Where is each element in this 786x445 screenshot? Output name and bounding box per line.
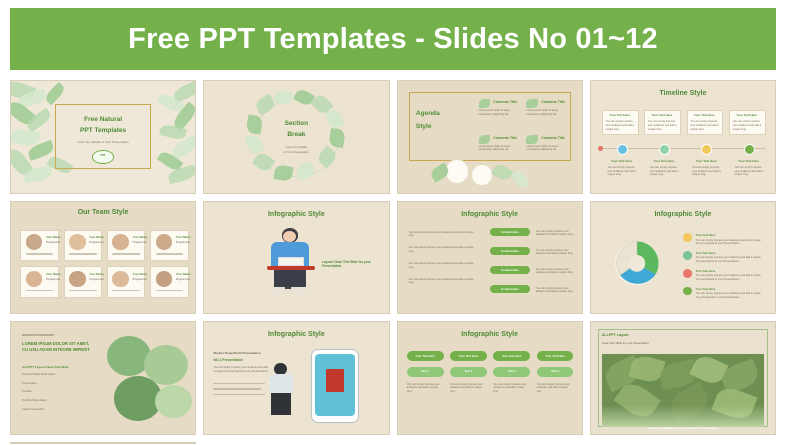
slide13-item-2-desc: You can simply impress your audience and… xyxy=(107,443,188,444)
slide-thumbnail-infographic-cards[interactable]: Infographic Style Your Text Here Your Te… xyxy=(397,321,583,435)
slide4-step-3-desc: You can simply impress your audience and… xyxy=(690,120,719,131)
slide8-legend-4: Your Text Here xyxy=(696,287,715,291)
slide9-bullet-5: Clean Presentation xyxy=(22,408,96,412)
slide4-sub-1: Your Text Here xyxy=(611,159,632,163)
slide5-member-5-role: Programmer xyxy=(46,278,60,281)
slide3-body-1: Lorem ipsum dolor sit amet, consectetur … xyxy=(479,109,523,117)
slide4-step-2-desc: You can simply impress your audience and… xyxy=(648,120,677,131)
slide1-subtitle: PPT Templates xyxy=(59,127,147,134)
slide9-heading: MODERN POWERPOINT xyxy=(22,333,54,337)
slide11-card-3-btn[interactable]: Text 3 xyxy=(493,369,530,373)
slide3-body-4: Lorem ipsum dolor sit amet, consectetur … xyxy=(526,145,570,153)
slide-thumbnail-timeline[interactable]: Timeline Style Your Text Here Your Text … xyxy=(590,80,776,194)
slide7-item-1-label: Content Here xyxy=(490,230,531,234)
slide-thumbnail-infographic-pie[interactable]: Infographic Style Your Text Here Your Te… xyxy=(590,201,776,315)
slide7-item-3-desc: You can simply impress your audience and… xyxy=(536,268,575,276)
slide5-member-3-name: Your Name xyxy=(133,235,148,239)
slide8-legend-1: Your Text Here xyxy=(696,233,715,237)
slide5-member-6-name: Your Name xyxy=(89,272,104,276)
slide11-card-2-btn[interactable]: Text 2 xyxy=(450,369,487,373)
slide-thumbnail-infographic-list[interactable]: Infographic Style You can simply impress… xyxy=(397,201,583,315)
slide5-member-3-role: Programmer xyxy=(133,241,147,244)
slide7-item-1-desc: You can simply impress your audience and… xyxy=(536,230,575,238)
slide-thumbnail-title[interactable]: Free Natural PPT Templates Insert the Su… xyxy=(10,80,196,194)
slide3-item-1: Contents Title xyxy=(493,100,517,104)
slide7-body-left-3: You can simply impress your audience and… xyxy=(409,262,479,270)
slide1-title: Free Natural xyxy=(59,116,147,123)
slide2-caption: Insert the Subtitle xyxy=(261,145,331,149)
slide11-card-3-title: Your Text Here xyxy=(493,354,530,358)
slide8-body-3: You can simply impress your audience and… xyxy=(696,274,762,282)
slide11-card-2-title: Your Text Here xyxy=(450,354,487,358)
slide13-title: Infographic Style xyxy=(129,443,186,444)
slide9-bullet-1: Simple Portfolio Presentation xyxy=(22,373,96,377)
slide5-member-6-role: Programmer xyxy=(89,278,103,281)
slide-thumbnail-lorem-ipsum[interactable]: MODERN POWERPOINT LOREM IPSUM DOLOR SIT … xyxy=(10,321,196,435)
slide4-sub-desc-2: You can simply impress your audience and… xyxy=(650,166,679,177)
slide7-item-3-label: Content Here xyxy=(490,268,531,272)
slide-thumbnail-our-team[interactable]: Our Team Style Your Name Programmer Your… xyxy=(10,201,196,315)
slide-thumbnail-infographic-person[interactable]: Infographic Style Layout Clean Text Slid… xyxy=(203,201,389,315)
slide4-step-3-label: Your Text Here xyxy=(694,113,715,117)
slide7-title: Infographic Style xyxy=(398,211,582,218)
slide12-footer: We Create Quality Professional PPT Prese… xyxy=(605,426,760,430)
slide11-card-1-btn[interactable]: Text 1 xyxy=(407,369,444,373)
slide10-heading: Modern PowerPoint Presentation xyxy=(213,351,260,355)
slide4-step-1-label: Your Text Here xyxy=(609,113,630,117)
slide5-member-7-role: Programmer xyxy=(133,278,147,281)
slide4-sub-2: Your Text Here xyxy=(653,159,674,163)
slide4-sub-desc-1: You can simply impress your audience and… xyxy=(607,166,636,177)
slide4-step-2-label: Your Text Here xyxy=(652,113,673,117)
slide7-item-2-desc: You can simply impress your audience and… xyxy=(536,249,575,257)
slide4-title: Timeline Style xyxy=(591,90,775,97)
slide3-body-2: Lorem ipsum dolor sit amet, consectetur … xyxy=(526,109,570,117)
question-mark-icon: ? xyxy=(26,443,52,444)
slide5-member-8-role: Programmer xyxy=(176,278,190,281)
slide-thumbnail-section-break[interactable]: Section Break Insert the Subtitle of You… xyxy=(203,80,389,194)
slide11-card-2-desc: You can simply impress your audience and… xyxy=(450,383,487,394)
slide3-item-2: Contents Title xyxy=(541,100,565,104)
slide7-item-4-label: Content Here xyxy=(490,287,531,291)
slide-thumbnail-infographic-reading[interactable]: Infographic Style ? Content Here You can… xyxy=(10,442,196,444)
slide5-member-4-name: Your Name xyxy=(176,235,191,239)
slide7-item-4-desc: You can simply impress your audience and… xyxy=(536,287,575,295)
slide13-item-1-label: Content Here xyxy=(107,443,125,444)
slide5-member-1-name: Your Name xyxy=(46,235,61,239)
page-banner: Free PPT Templates - Slides No 01~12 xyxy=(10,8,776,70)
slide8-body-4: You can simply impress your audience and… xyxy=(696,292,762,300)
slide8-body-1: You can simply impress your audience and… xyxy=(696,239,762,247)
slide9-bullet-4: Portfolio Presentation xyxy=(22,399,96,403)
slide10-title: Infographic Style xyxy=(204,331,388,338)
slide8-legend-2: Your Text Here xyxy=(696,251,715,255)
slide3-title2: Style xyxy=(416,123,432,130)
slide5-member-2-role: Programmer xyxy=(89,241,103,244)
slide8-title: Infographic Style xyxy=(591,211,775,218)
slide8-body-2: You can simply impress your audience and… xyxy=(696,256,762,264)
slide9-title: LOREM IPSUM DOLOR SIT AMET, CU USU AGAM … xyxy=(22,341,96,353)
slide4-step-1-desc: You can simply impress your audience and… xyxy=(605,120,634,131)
slide9-subtitle: ALUPPT Layout Clean Text Slide xyxy=(22,365,68,369)
slide11-card-1-desc: You can simply impress your audience and… xyxy=(407,383,444,394)
slide4-step-4-label: Your Text Here xyxy=(736,113,757,117)
slide7-body-left-4: You can simply impress your audience and… xyxy=(409,278,479,286)
slide1-caption: Insert the Subtitle of Your Presentation xyxy=(59,140,147,144)
slide9-bullet-2: Presentation xyxy=(22,382,96,386)
slide5-title: Our Team Style xyxy=(11,209,195,216)
slide7-item-2-label: Content Here xyxy=(490,249,531,253)
slide4-sub-desc-3: You can simply impress your audience and… xyxy=(692,166,721,177)
slide-thumbnail-photo-layout[interactable]: ALLPPT Layout Clean Text Slide for your … xyxy=(590,321,776,435)
slide5-member-5-name: Your Name xyxy=(46,272,61,276)
slide-thumbnail-agenda[interactable]: Agenda Style Contents Title Contents Tit… xyxy=(397,80,583,194)
slide7-body-left: You can simply impress your audience and… xyxy=(409,231,479,239)
slide11-title: Infographic Style xyxy=(398,331,582,338)
slide11-card-4-btn[interactable]: Text 4 xyxy=(537,369,574,373)
slide13-item-2-label: Content Here xyxy=(107,443,125,444)
banner-title: Free PPT Templates - Slides No 01~12 xyxy=(128,23,658,56)
slide1-badge: PPT xyxy=(92,154,114,157)
slide-thumbnail-infographic-phone[interactable]: Infographic Style Modern PowerPoint Pres… xyxy=(203,321,389,435)
slide5-member-1-role: Programmer xyxy=(46,241,60,244)
slide4-sub-desc-4: You can simply impress your audience and… xyxy=(734,166,763,177)
slide2-caption2: of Your Presentation xyxy=(261,150,331,154)
slide4-sub-3: Your Text Here xyxy=(696,159,717,163)
slide3-title: Agenda xyxy=(416,110,440,117)
slide11-card-4-title: Your Text Here xyxy=(537,354,574,358)
slide4-sub-4: Your Text Here xyxy=(738,159,759,163)
slide11-card-4-desc: You can simply impress your audience and… xyxy=(537,383,574,394)
slide8-legend-3: Your Text Here xyxy=(696,269,715,273)
slide9-bullet-3: Portfolio xyxy=(22,390,96,394)
pie-chart-icon xyxy=(600,231,674,296)
slide2-title: Section xyxy=(265,120,328,127)
slide7-body-left-2: You can simply impress your audience and… xyxy=(409,246,479,254)
slide6-title: Infographic Style xyxy=(204,211,388,218)
slide10-sub: NO.1 Presentation xyxy=(213,358,242,362)
slide10-body: You can simply impress your audience and… xyxy=(213,366,268,374)
slide5-member-2-name: Your Name xyxy=(89,235,104,239)
slide3-body-3: Lorem ipsum dolor sit amet, consectetur … xyxy=(479,145,523,153)
slide-thumbnail-grid: Free Natural PPT Templates Insert the Su… xyxy=(10,80,776,444)
slide5-member-8-name: Your Name xyxy=(176,272,191,276)
slide3-item-4: Contents Title xyxy=(541,136,565,140)
slide3-item-3: Contents Title xyxy=(493,136,517,140)
slide4-step-4-desc: You can simply impress your audience and… xyxy=(733,120,762,131)
slide5-member-7-name: Your Name xyxy=(133,272,148,276)
slide11-card-3-desc: You can simply impress your audience and… xyxy=(493,383,530,394)
slide2-title2: Break xyxy=(265,131,328,138)
slide5-member-4-role: Programmer xyxy=(176,241,190,244)
slide6-caption: Layout Clean Text Slide for your Present… xyxy=(322,260,388,268)
slide13-item-1-desc: You can simply impress your audience and… xyxy=(107,443,188,444)
ppt-template-preview-page: Free PPT Templates - Slides No 01~12 xyxy=(0,0,786,445)
slide11-card-1-title: Your Text Here xyxy=(407,354,444,358)
